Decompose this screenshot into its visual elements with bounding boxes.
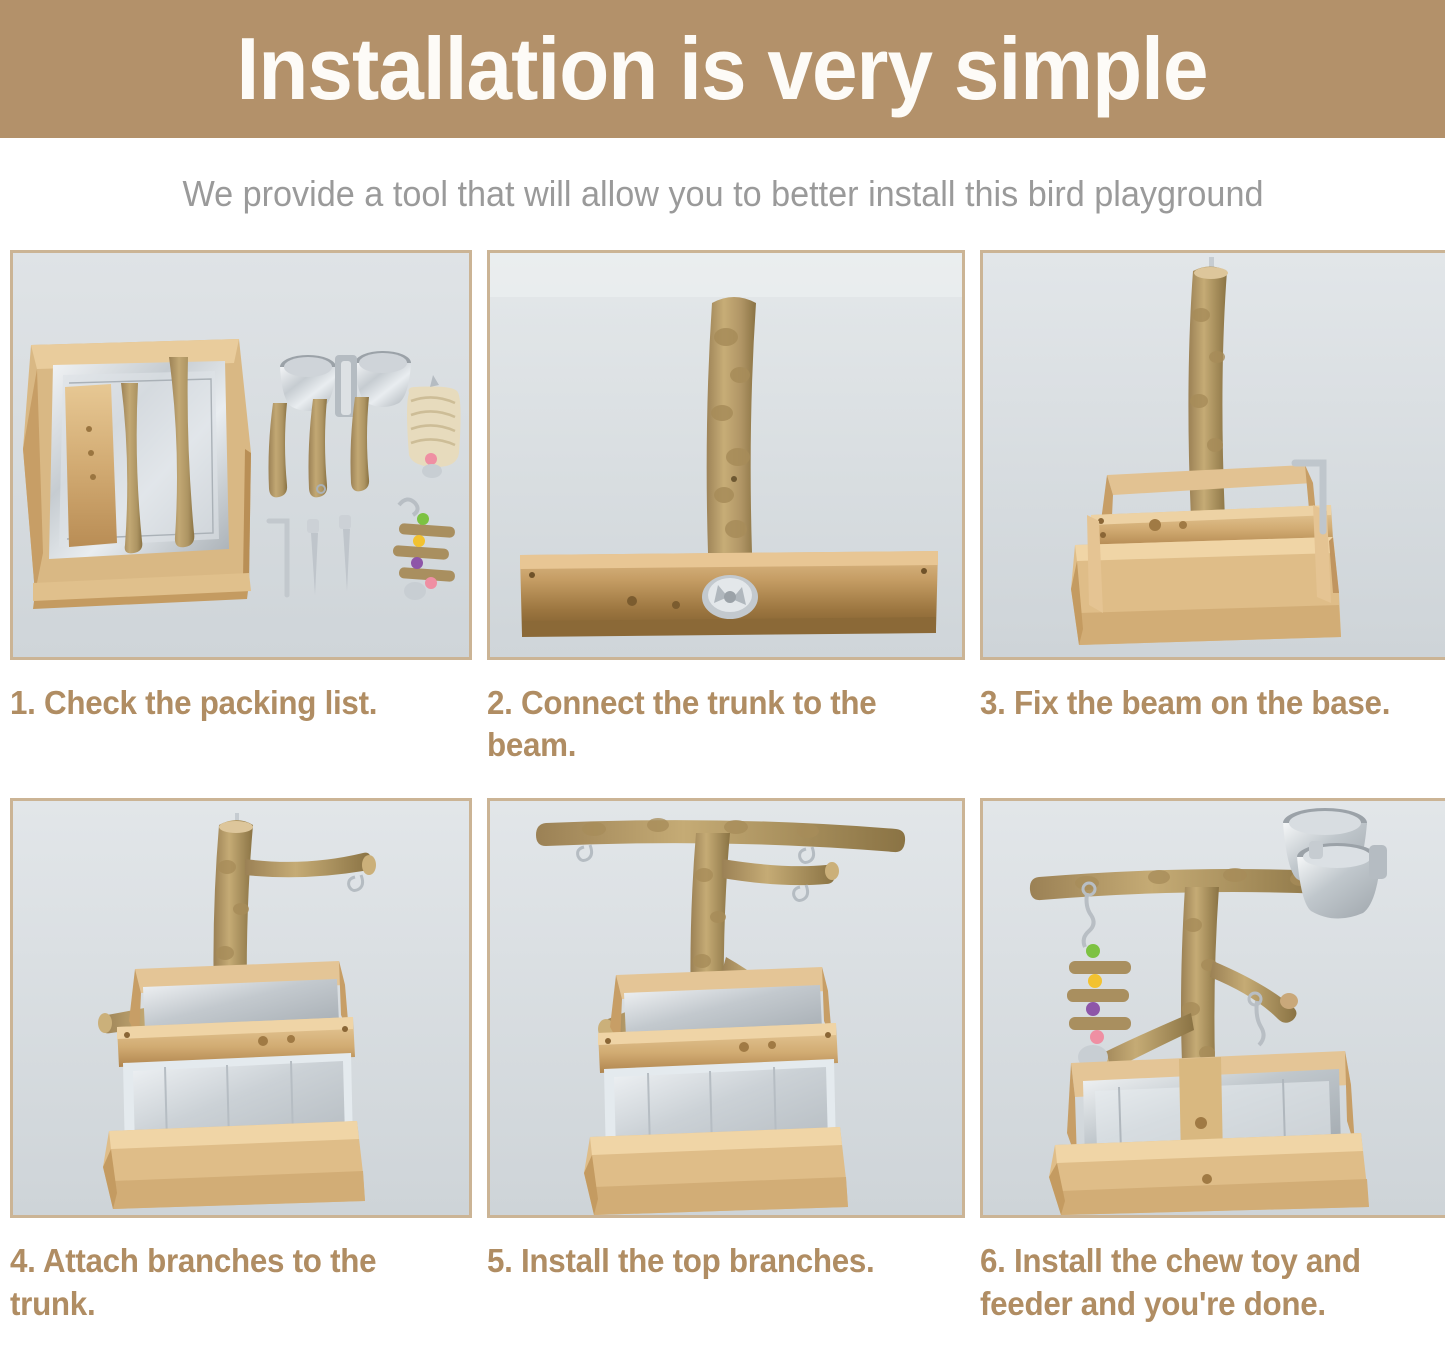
step-3-photo: [980, 250, 1445, 660]
cup-bracket: [1369, 845, 1387, 879]
step-2: 2. Connect the trunk to the beam.: [487, 250, 965, 766]
step-1-photo: [10, 250, 472, 660]
steps-row-2: 4. Attach branches to the trunk.: [0, 798, 1445, 1324]
wooden-beam: [520, 551, 938, 637]
step-4-photo: [10, 798, 472, 1218]
steps-row-1: 1. Check the packing list.: [0, 250, 1445, 766]
bolt-head: [702, 575, 758, 619]
trunk-branch: [707, 297, 756, 553]
step-5-photo: [487, 798, 965, 1218]
step-1: 1. Check the packing list.: [10, 250, 472, 766]
subtitle-band: We provide a tool that will allow you to…: [0, 138, 1445, 250]
page-title: Installation is very simple: [237, 25, 1208, 113]
step-3: 3. Fix the beam on the base.: [980, 250, 1445, 766]
step-2-photo: [487, 250, 965, 660]
step-2-caption: 2. Connect the trunk to the beam.: [487, 682, 941, 766]
step-1-caption: 1. Check the packing list.: [10, 682, 449, 724]
step-6: 6. Install the chew toy and feeder and y…: [980, 798, 1445, 1324]
short-perch-branches: [269, 397, 370, 497]
step-5: 5. Install the top branches.: [487, 798, 965, 1324]
step-4-caption: 4. Attach branches to the trunk.: [10, 1240, 449, 1324]
wooden-base-frame: [23, 339, 251, 609]
step-5-caption: 5. Install the top branches.: [487, 1240, 941, 1282]
step-3-caption: 3. Fix the beam on the base.: [980, 682, 1431, 724]
step-4: 4. Attach branches to the trunk.: [10, 798, 472, 1324]
wooden-base-frame: [1049, 1051, 1369, 1215]
header-band: Installation is very simple: [0, 0, 1445, 138]
step-6-photo: [980, 798, 1445, 1218]
step-6-caption: 6. Install the chew toy and feeder and y…: [980, 1240, 1431, 1324]
page-subtitle: We provide a tool that will allow you to…: [182, 173, 1263, 215]
